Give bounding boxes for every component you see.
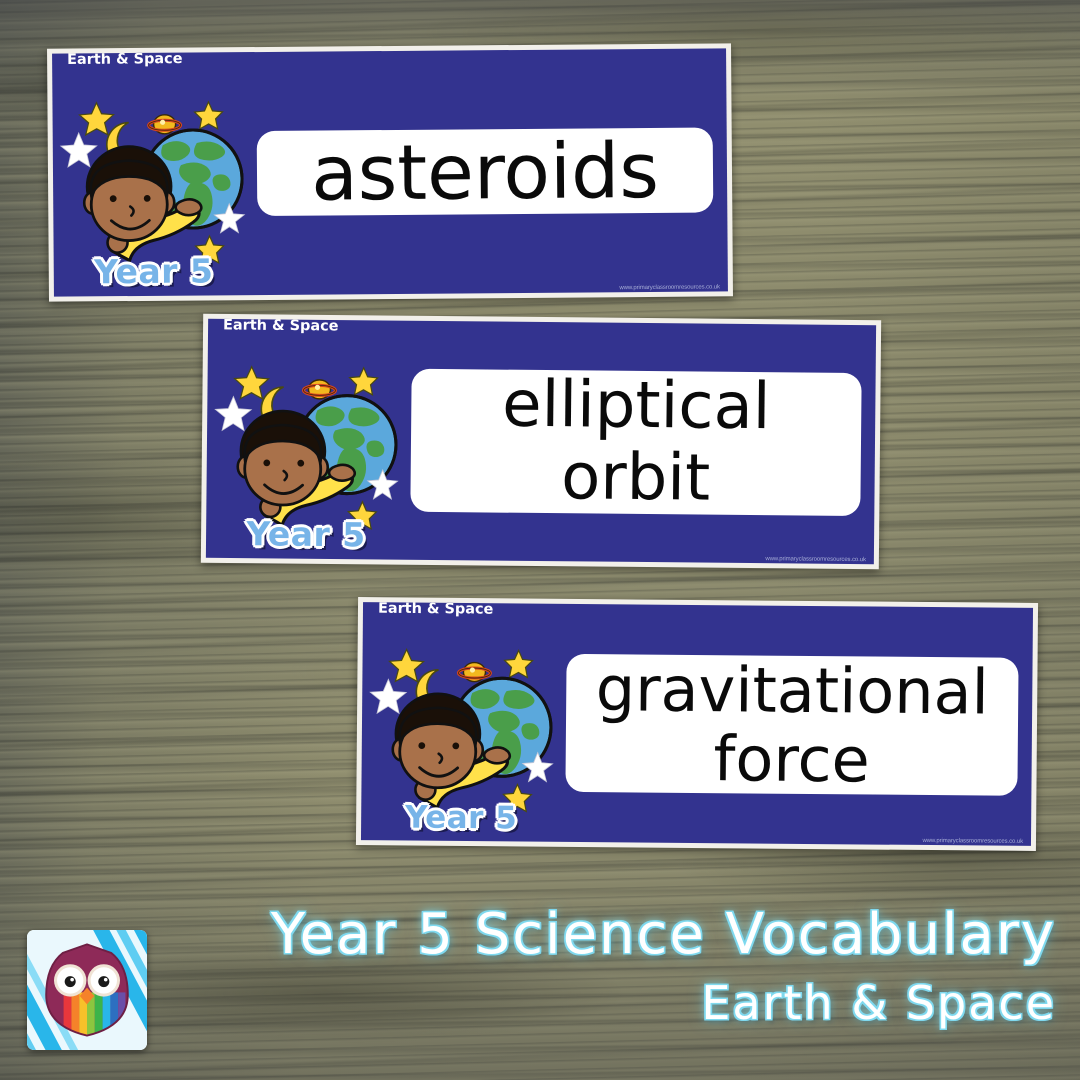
vocabulary-word: asteroids bbox=[303, 128, 667, 216]
saturn-planet-icon bbox=[458, 662, 490, 681]
star-icon bbox=[215, 396, 251, 430]
vocabulary-card[interactable]: Earth & Space bbox=[356, 597, 1038, 851]
rainbow-owl-logo[interactable] bbox=[27, 930, 147, 1050]
star-icon bbox=[194, 102, 222, 129]
vocabulary-word: gravitational force bbox=[587, 654, 997, 796]
card-artwork: Earth & Space bbox=[361, 602, 563, 842]
star-icon bbox=[61, 133, 97, 167]
card-inner: Earth & Space bbox=[206, 319, 876, 564]
word-panel[interactable]: asteroids bbox=[257, 127, 714, 216]
star-icon bbox=[504, 650, 532, 677]
saturn-planet-icon bbox=[149, 115, 181, 134]
star-icon bbox=[389, 649, 423, 681]
star-icon bbox=[349, 368, 377, 395]
year-badge: Year 5 bbox=[246, 514, 366, 554]
star-icon bbox=[79, 103, 113, 135]
vocabulary-card[interactable]: Earth & Space bbox=[47, 43, 733, 301]
star-icon bbox=[234, 367, 268, 399]
vocabulary-word: elliptical orbit bbox=[493, 369, 779, 515]
vocabulary-card[interactable]: Earth & Space bbox=[201, 314, 881, 569]
card-inner: Earth & Space bbox=[52, 48, 728, 296]
watermark: www.primaryclassroomresources.co.uk bbox=[922, 838, 1023, 845]
year-badge: Year 5 bbox=[94, 252, 214, 292]
star-icon bbox=[370, 679, 406, 713]
word-panel[interactable]: elliptical orbit bbox=[410, 369, 861, 517]
word-panel[interactable]: gravitational force bbox=[565, 653, 1018, 796]
saturn-planet-icon bbox=[303, 380, 335, 399]
card-inner: Earth & Space bbox=[361, 602, 1033, 846]
watermark: www.primaryclassroomresources.co.uk bbox=[619, 284, 720, 291]
card-artwork: Earth & Space bbox=[52, 52, 254, 297]
poster-title-line-1: Year 5 Science Vocabulary bbox=[271, 902, 1056, 967]
poster-title-line-2: Earth & Space bbox=[701, 976, 1056, 1030]
year-badge: Year 5 bbox=[405, 800, 518, 837]
watermark: www.primaryclassroomresources.co.uk bbox=[765, 556, 866, 563]
card-artwork: Earth & Space bbox=[206, 319, 408, 560]
